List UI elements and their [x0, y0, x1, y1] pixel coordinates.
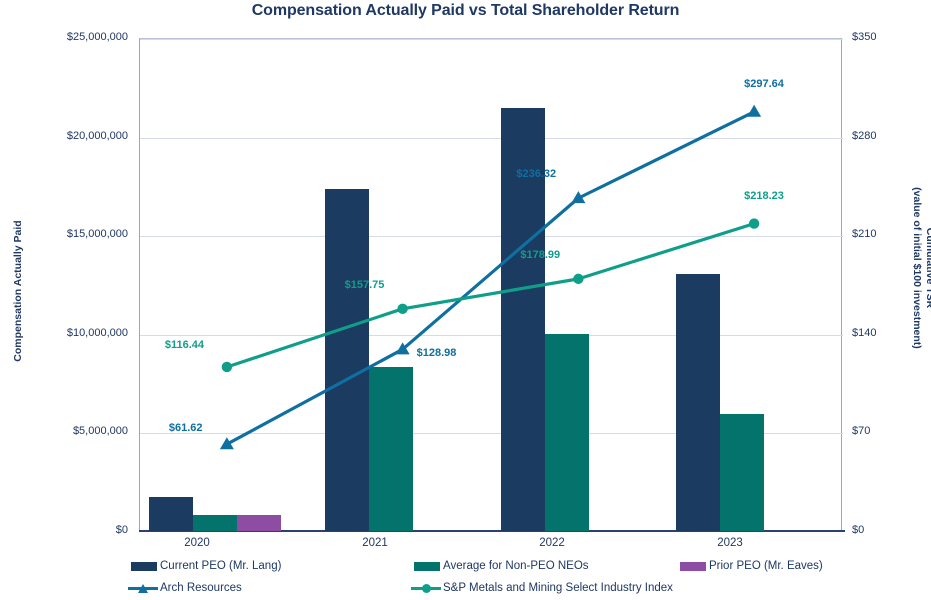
y-tick-right-70: $70	[852, 425, 870, 437]
legend-label-current-peo: Current PEO (Mr. Lang)	[160, 560, 281, 572]
chart-root: Compensation Actually Paid vs Total Shar…	[0, 0, 931, 600]
bar-2020-average-for-non-peo-neos	[193, 515, 237, 531]
y-tick-left-5000000: $5,000,000	[73, 425, 128, 437]
point-label-2022-arch-resources: $236.32	[516, 168, 556, 180]
point-label-2023-arch-resources: $297.64	[744, 78, 784, 90]
legend-item-non-peo-neos[interactable]: Average for Non-PEO NEOs	[414, 560, 589, 572]
legend-item-prior-peo[interactable]: Prior PEO (Mr. Eaves)	[680, 560, 823, 572]
gridline-20m	[140, 138, 843, 139]
point-label-2020-sp-metals-mining: $116.44	[165, 339, 204, 351]
y-axis-right-title-line1: Cumulative TSR	[924, 228, 931, 309]
y-tick-left-25000000: $25,000,000	[67, 31, 128, 43]
bar-2023-current-peo-mr-lang	[676, 274, 720, 531]
y-tick-right-140: $140	[852, 327, 876, 339]
gridline-25m	[140, 39, 843, 40]
legend-marker-sp-metals-mining	[411, 583, 441, 594]
point-label-2020-arch-resources: $61.62	[169, 422, 203, 434]
y-tick-left-15000000: $15,000,000	[67, 228, 128, 240]
bar-2023-average-for-non-peo-neos	[720, 414, 764, 531]
legend-item-current-peo[interactable]: Current PEO (Mr. Lang)	[131, 560, 281, 572]
chart-title: Compensation Actually Paid vs Total Shar…	[0, 2, 931, 20]
legend-label-arch-resources: Arch Resources	[160, 582, 242, 594]
y-tick-left-20000000: $20,000,000	[67, 130, 128, 142]
legend-swatch-prior-peo	[680, 562, 706, 571]
x-tick-2022: 2022	[492, 537, 612, 549]
y-tick-left-0: $0	[116, 524, 128, 536]
gridline-15m	[140, 236, 843, 237]
point-label-2023-sp-metals-mining: $218.23	[744, 190, 784, 202]
legend-swatch-current-peo	[131, 562, 157, 571]
legend-label-prior-peo: Prior PEO (Mr. Eaves)	[709, 560, 823, 572]
x-tick-2021: 2021	[315, 537, 435, 549]
point-label-2021-sp-metals-mining: $157.75	[345, 279, 385, 291]
chart-legend: Current PEO (Mr. Lang) Average for Non-P…	[0, 556, 931, 600]
y-tick-left-10000000: $10,000,000	[67, 327, 128, 339]
legend-label-non-peo-neos: Average for Non-PEO NEOs	[443, 560, 589, 572]
bar-2022-average-for-non-peo-neos	[545, 334, 589, 531]
y-tick-right-210: $210	[852, 228, 876, 240]
bar-2021-current-peo-mr-lang	[325, 189, 369, 531]
point-label-2021-arch-resources: $128.98	[417, 347, 457, 359]
y-axis-right-title: Cumulative TSR (value of initial $100 in…	[910, 183, 931, 353]
y-axis-right-title-line2: (value of initial $100 investment)	[911, 187, 923, 349]
y-tick-right-0: $0	[852, 524, 864, 536]
legend-item-arch-resources[interactable]: Arch Resources	[128, 582, 242, 594]
y-tick-right-280: $280	[852, 130, 876, 142]
gridline-10m	[140, 335, 843, 336]
bar-2020-current-peo-mr-lang	[149, 497, 193, 531]
legend-swatch-non-peo-neos	[414, 562, 440, 571]
y-axis-left-title: Compensation Actually Paid	[12, 211, 24, 371]
x-tick-2020: 2020	[137, 537, 257, 549]
legend-marker-arch-resources	[128, 583, 158, 594]
legend-label-sp-metals-mining: S&P Metals and Mining Select Industry In…	[443, 582, 673, 594]
y-tick-right-350: $350	[852, 31, 876, 43]
x-tick-2023: 2023	[670, 537, 790, 549]
bar-2020-prior-peo-mr-eaves	[237, 515, 281, 531]
bar-2021-average-for-non-peo-neos	[369, 367, 413, 531]
legend-item-sp-metals-mining[interactable]: S&P Metals and Mining Select Industry In…	[411, 582, 673, 594]
point-label-2022-sp-metals-mining: $178.99	[520, 249, 560, 261]
